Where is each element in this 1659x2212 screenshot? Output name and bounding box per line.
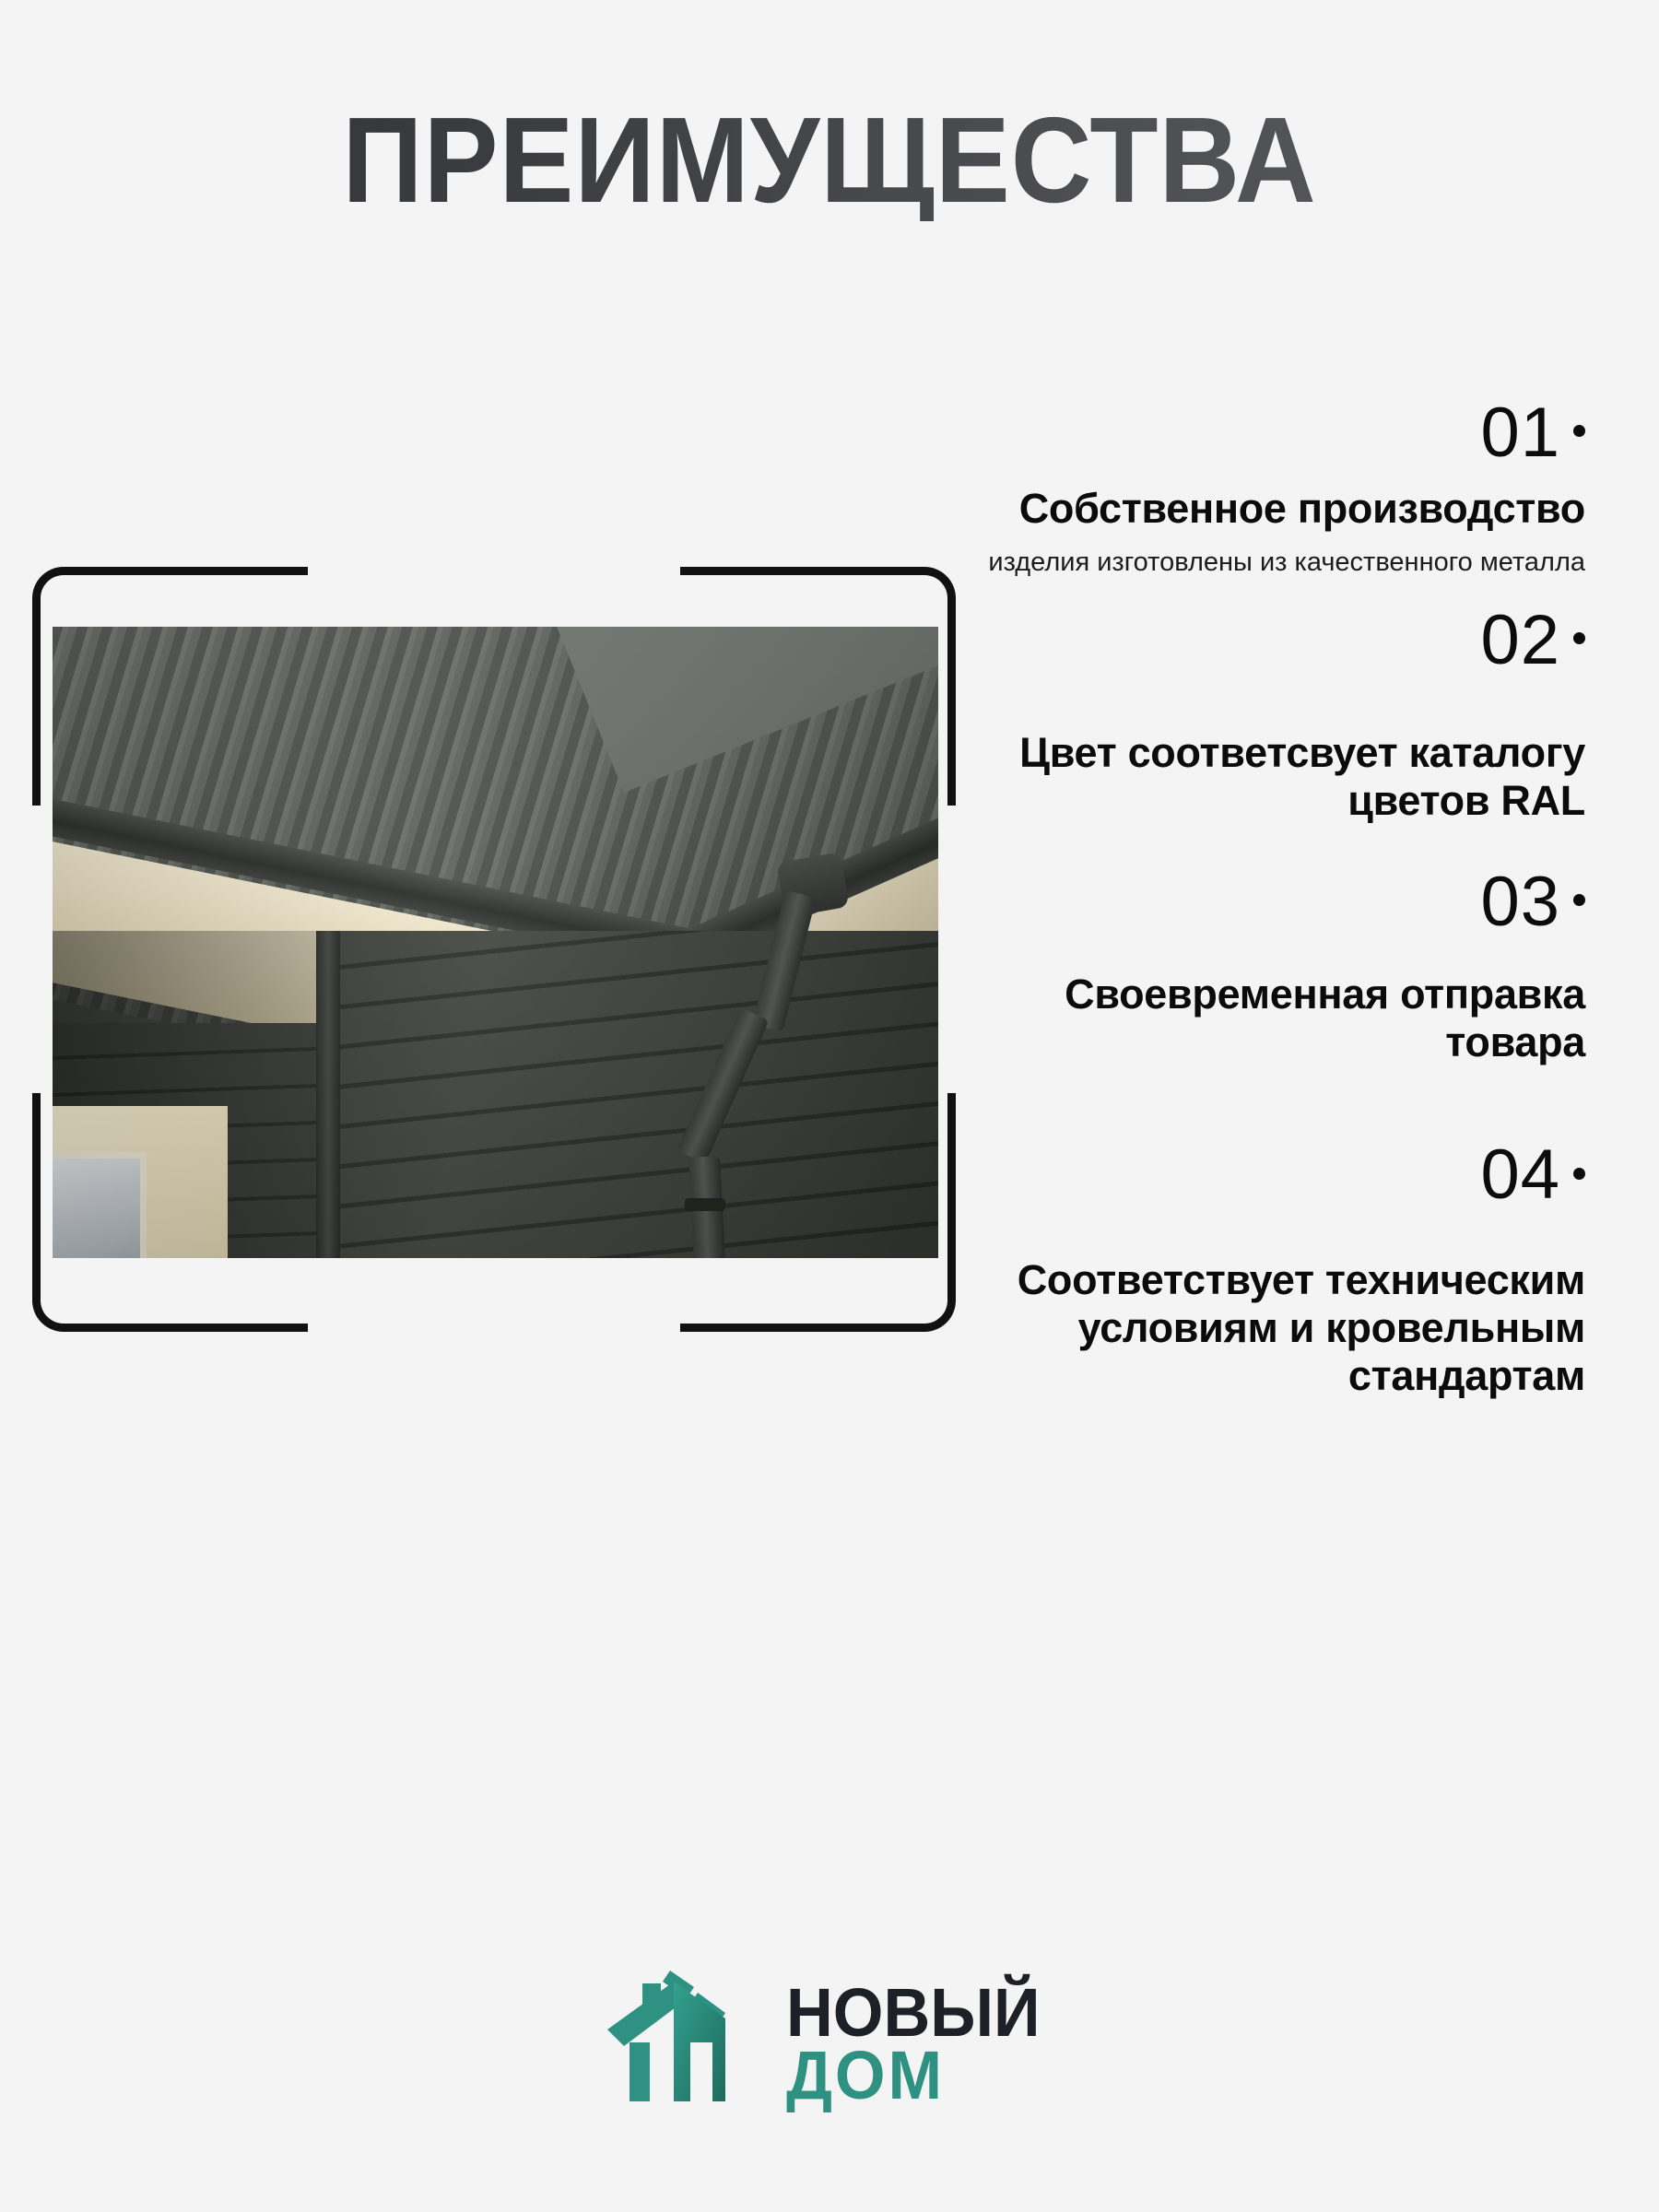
feature-number-04: 04 — [1480, 1138, 1560, 1212]
feature-item-01: 01 Собственное производство изделия изго… — [940, 396, 1585, 580]
logo-line-novyy: НОВЫЙ — [786, 1982, 1041, 2044]
feature-number-row-04: 04 — [940, 1138, 1585, 1212]
features-list: 01 Собственное производство изделия изго… — [940, 396, 1585, 1408]
feature-item-02: 02 Цвет соответсвует каталогу цветов RAL — [940, 604, 1585, 825]
bullet-dot-icon — [1573, 425, 1585, 437]
feature-number-row-01: 01 — [940, 396, 1585, 470]
house-icon — [606, 1961, 760, 2127]
feature-heading-03: Своевременная отправка товара — [940, 971, 1585, 1066]
page-title: ПРЕИМУЩЕСТВА — [66, 100, 1593, 221]
logo-line-dom: ДОМ — [786, 2044, 1041, 2107]
bullet-dot-icon — [1573, 1168, 1585, 1180]
product-photo — [53, 627, 938, 1258]
photo-vignette — [53, 627, 938, 1258]
logo-wordmark: НОВЫЙ ДОМ — [786, 1982, 1053, 2107]
feature-subtext-01: изделия изготовлены из качественного мет… — [940, 546, 1585, 580]
feature-number-01: 01 — [1480, 396, 1560, 470]
feature-heading-01: Собственное производство — [940, 485, 1585, 533]
feature-heading-04: Соответствует техническим условиям и кро… — [940, 1256, 1585, 1401]
bullet-dot-icon — [1573, 632, 1585, 644]
bullet-dot-icon — [1573, 894, 1585, 906]
feature-heading-02: Цвет соответсвует каталогу цветов RAL — [940, 729, 1585, 825]
brand-logo: НОВЫЙ ДОМ — [0, 1961, 1659, 2127]
feature-number-03: 03 — [1480, 865, 1560, 939]
feature-number-row-03: 03 — [940, 865, 1585, 939]
feature-number-02: 02 — [1480, 604, 1560, 677]
feature-item-03: 03 Своевременная отправка товара — [940, 865, 1585, 1066]
feature-number-row-02: 02 — [940, 604, 1585, 677]
feature-item-04: 04 Соответствует техническим условиям и … — [940, 1138, 1585, 1400]
photo-frame — [32, 567, 956, 1332]
